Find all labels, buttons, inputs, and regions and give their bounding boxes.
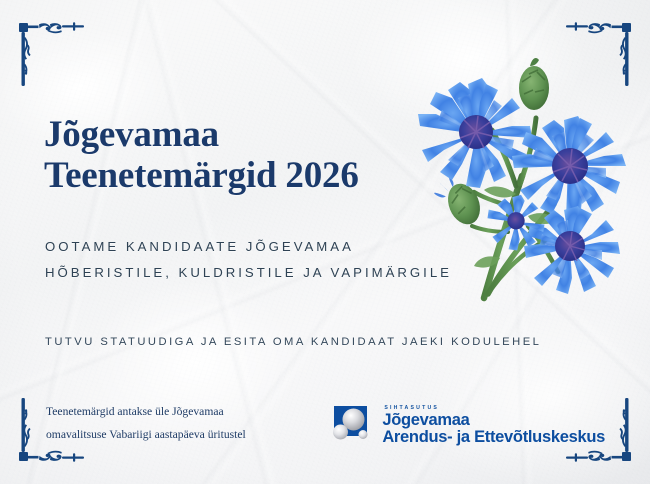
logo-name-line-2: Arendus- ja Ettevõtluskeskus	[382, 429, 605, 446]
page-title: Jõgevamaa Teenetemärgid 2026	[44, 114, 359, 197]
footnote-line-1: Teenetemärgid antakse üle Jõgevamaa	[46, 400, 246, 423]
organization-logo: SIHTASUTUS Jõgevamaa Arendus- ja Ettevõt…	[332, 404, 605, 446]
poster-canvas: Jõgevamaa Teenetemärgid 2026 OOTAME KAND…	[0, 0, 650, 484]
logo-text-block: SIHTASUTUS Jõgevamaa Arendus- ja Ettevõt…	[382, 404, 605, 446]
subtitle-line-1: OOTAME KANDIDAATE JÕGEVAMAA	[45, 234, 452, 260]
headline-line-1: Jõgevamaa	[44, 114, 359, 155]
headline-line-2: Teenetemärgid 2026	[44, 155, 359, 196]
corner-ornament-top-left-icon	[15, 13, 93, 91]
call-to-action-text: TUTVU STATUUDIGA JA ESITA OMA KANDIDAAT …	[45, 336, 541, 348]
subtitle: OOTAME KANDIDAATE JÕGEVAMAA HÕBERISTILE,…	[45, 234, 452, 287]
logo-mark-icon	[332, 404, 374, 446]
footnote-line-2: omavalitsuse Vabariigi aastapäeva üritus…	[46, 423, 246, 446]
subtitle-line-2: HÕBERISTILE, KULDRISTILE JA VAPIMÄRGILE	[45, 260, 452, 286]
corner-ornament-top-right-icon	[557, 13, 635, 91]
logo-name-line-1: Jõgevamaa	[382, 412, 605, 429]
footnote: Teenetemärgid antakse üle Jõgevamaa omav…	[46, 400, 246, 446]
